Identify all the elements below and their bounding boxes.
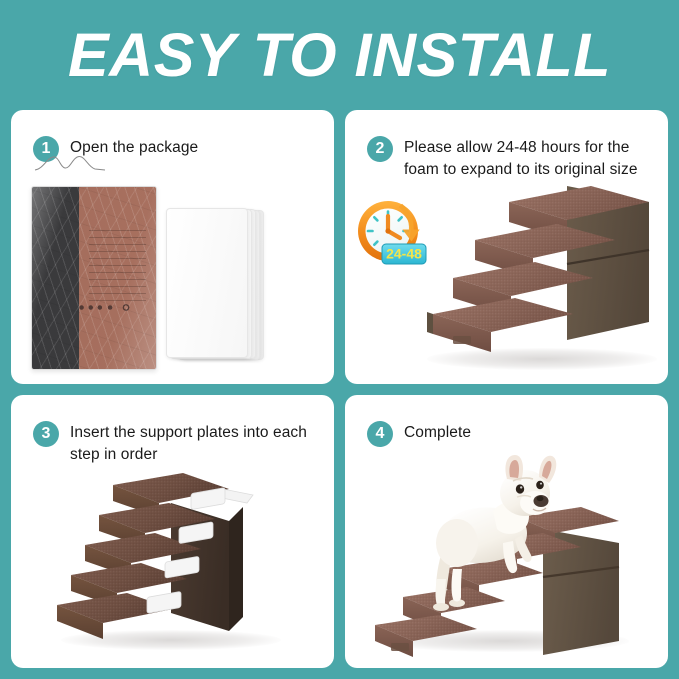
step-1-illustration: [11, 166, 334, 384]
step-card-3: 3 Insert the support plates into each st…: [11, 395, 334, 669]
page-title: EASY TO INSTALL: [68, 25, 611, 86]
pet-stairs-front-view: [417, 172, 667, 360]
step-2-illustration: 24-48: [345, 166, 668, 384]
package-care-symbols: [77, 303, 134, 312]
support-plate: [166, 208, 248, 358]
sealed-package-icon: [31, 186, 157, 370]
step-card-2: 2 Please allow 24-48 hours for the foam …: [345, 110, 668, 384]
brand-tag: [391, 643, 409, 651]
support-plates-stack: [166, 208, 262, 358]
step-card-4: 4 Complete: [345, 395, 668, 669]
step-4-label: Complete: [404, 420, 471, 444]
step-4-illustration: [345, 451, 668, 669]
package-seal-icon: [33, 155, 107, 171]
pet-stairs-back-view-with-plates: [47, 463, 307, 645]
step-4-heading: 4 Complete: [367, 420, 654, 447]
step-card-1: 1 Open the package: [11, 110, 334, 384]
step-number-badge-3: 3: [33, 421, 59, 447]
steps-grid: 1 Open the package: [0, 110, 679, 679]
pet-stairs-with-dog: [367, 451, 655, 665]
step-number-badge-2: 2: [367, 136, 393, 162]
step-number-badge-4: 4: [367, 421, 393, 447]
easy-to-install-infographic: EASY TO INSTALL 1 Open the package: [0, 0, 679, 679]
header-banner: EASY TO INSTALL: [0, 0, 679, 110]
step-3-illustration: [11, 451, 334, 669]
package-print-label: [89, 230, 146, 306]
